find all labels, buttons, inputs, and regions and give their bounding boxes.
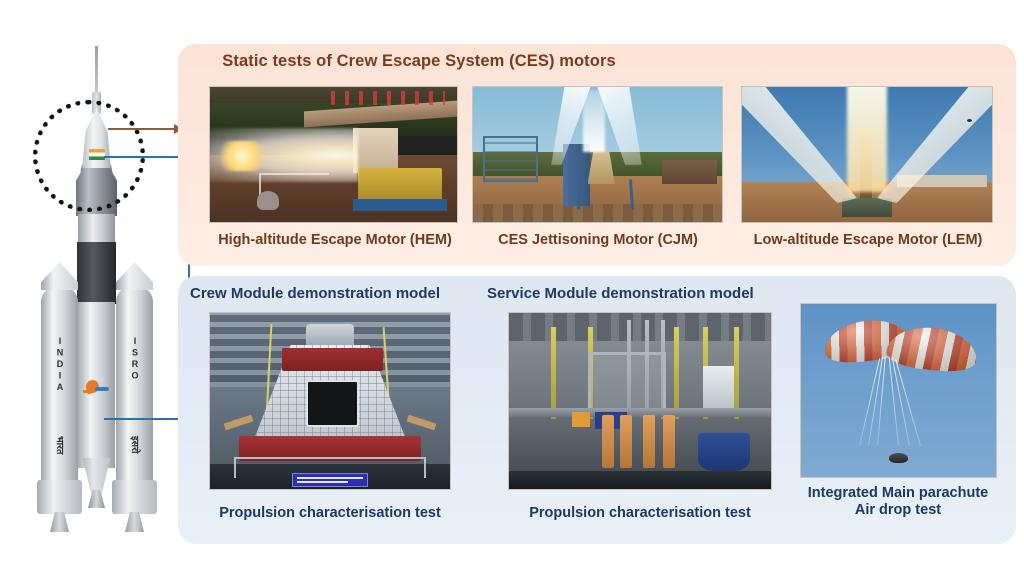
booster-left: INDIA भारत [41, 286, 78, 484]
caption-service-module-test: Propulsion characterisation test [492, 505, 788, 522]
booster-left-nosecone [41, 262, 78, 290]
booster-left-nozzle-icon [50, 512, 69, 532]
booster-right-label-hindi: इसरो [128, 436, 141, 453]
caption-parachute-line1: Integrated Main parachute [778, 485, 1018, 502]
ces-callout-arrow-icon [108, 128, 182, 130]
caption-high-altitude-escape-motor: High-altitude Escape Motor (HEM) [190, 232, 480, 249]
parachute-risers [852, 356, 942, 446]
caption-ces-jettisoning-motor: CES Jettisoning Motor (CJM) [465, 232, 731, 249]
core-stage-taper [80, 458, 113, 494]
photo-parachute-air-drop [800, 303, 997, 478]
caption-parachute-air-drop: Integrated Main parachute Air drop test [778, 485, 1018, 519]
ces-panel-title: Static tests of Crew Escape System (CES)… [0, 52, 838, 71]
booster-left-skirt [37, 480, 82, 514]
booster-left-label: INDIA [55, 336, 65, 394]
booster-right-skirt [112, 480, 157, 514]
core-engine-nozzle-icon [88, 490, 105, 508]
caption-parachute-line2: Air drop test [778, 502, 1018, 519]
booster-left-label-hindi: भारत [53, 436, 66, 454]
caption-low-altitude-escape-motor: Low-altitude Escape Motor (LEM) [729, 232, 1007, 249]
photo-low-altitude-escape-motor [741, 86, 993, 223]
crew-module-panel-title: Crew Module demonstration model [190, 285, 440, 302]
caption-crew-module-test: Propulsion characterisation test [190, 505, 470, 522]
booster-right-nozzle-icon [125, 512, 144, 532]
photo-ces-jettisoning-motor [472, 86, 723, 223]
photo-service-module-demonstration [508, 312, 772, 490]
photo-crew-module-demonstration [209, 312, 451, 490]
photo-high-altitude-escape-motor [209, 86, 458, 223]
service-module-panel-title: Service Module demonstration model [487, 285, 754, 302]
crew-module-signboard [292, 473, 369, 487]
payload-mass-icon [889, 453, 909, 463]
infographic-canvas: INDIA भारत ISRO इसरो Static tests of Cre… [0, 0, 1024, 576]
